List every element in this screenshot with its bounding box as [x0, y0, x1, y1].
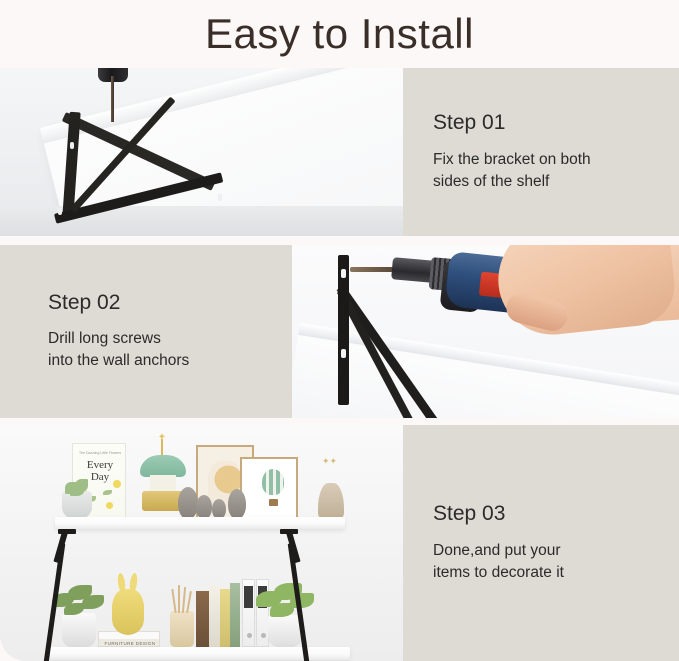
plant-leaf — [270, 603, 294, 617]
decor-ceramic-sphere — [212, 499, 226, 519]
decor-ceramic-sphere — [228, 489, 246, 519]
drill-chuck — [391, 257, 435, 283]
plant-leaf — [64, 603, 84, 615]
step-03-text-pane: Step 03 Done,and put your items to decor… — [403, 425, 679, 661]
decor-pencil-holder — [170, 611, 194, 647]
bracket-screw-hole — [218, 194, 222, 201]
decor-book-spine — [220, 589, 230, 647]
step-01-title: Step 01 — [433, 111, 679, 134]
bracket-top-right-arm — [280, 529, 298, 534]
decor-ceramic-sphere — [196, 495, 212, 519]
step-01-photo — [0, 68, 403, 236]
carousel-roof — [140, 455, 186, 477]
shelf-board-top — [55, 517, 345, 529]
pencil — [178, 585, 180, 613]
decor-binder — [242, 579, 255, 647]
bracket-screw-hole — [341, 349, 346, 358]
decor-book-spine — [230, 583, 240, 647]
stacked-book-label: FURNITURE DESIGN — [103, 641, 157, 646]
decor-book-spine — [209, 585, 220, 647]
decor-succulent-pot — [62, 491, 92, 519]
step-03-title: Step 03 — [433, 502, 679, 525]
decor-book-spine — [196, 591, 209, 647]
step-03-photo: The Dazzling Little Flowers Every Day ✦ — [0, 425, 403, 661]
bracket-top-left-arm — [58, 529, 76, 534]
step-01-text-pane: Step 01 Fix the bracket on both sides of… — [403, 68, 679, 236]
step-row-02: Step 02 Drill long screws into the wall … — [0, 245, 679, 418]
step-02-text-pane: Step 02 Drill long screws into the wall … — [0, 245, 292, 418]
binder-label — [244, 586, 253, 608]
hot-air-balloon-art — [262, 469, 284, 495]
step-row-01: Step 01 Fix the bracket on both sides of… — [0, 68, 679, 236]
header-banner: Easy to Install — [0, 0, 679, 68]
binder-ring-hole — [247, 633, 252, 638]
decor-picture-frame-balloon — [240, 457, 298, 519]
balloon-basket-art — [269, 499, 278, 506]
product-infographic: Easy to Install Step 01 Fix the bracket … — [0, 0, 679, 661]
leaf-graphic — [103, 490, 112, 495]
bracket-screw-hole — [341, 269, 346, 278]
decor-bunny-figurine — [112, 589, 144, 635]
decor-dried-stems: ✦✦ — [322, 457, 342, 485]
bracket-screw-hole — [58, 208, 62, 215]
step-02-photo — [292, 245, 679, 418]
decor-plant-pot-right — [268, 615, 302, 647]
step-02-title: Step 02 — [48, 291, 292, 314]
bracket-screw-hole — [70, 142, 74, 149]
lemon-graphic — [106, 502, 113, 509]
book-subtitle: The Dazzling Little Flowers — [79, 451, 121, 455]
lemon-graphic — [113, 480, 121, 488]
screw-shaft — [350, 267, 394, 272]
succulent-leaf — [70, 486, 84, 496]
page-title: Easy to Install — [205, 13, 474, 55]
decor-vase — [318, 483, 344, 519]
step-row-03: The Dazzling Little Flowers Every Day ✦ — [0, 425, 679, 661]
drill-bit — [111, 76, 114, 122]
decor-ceramic-sphere — [178, 487, 198, 519]
decor-plant-pot-left — [62, 613, 96, 647]
binder-ring-hole — [261, 633, 266, 638]
step-03-body: Done,and put your items to decorate it — [433, 540, 679, 584]
step-02-body: Drill long screws into the wall anchors — [48, 328, 292, 372]
step-01-body: Fix the bracket on both sides of the she… — [433, 149, 679, 193]
